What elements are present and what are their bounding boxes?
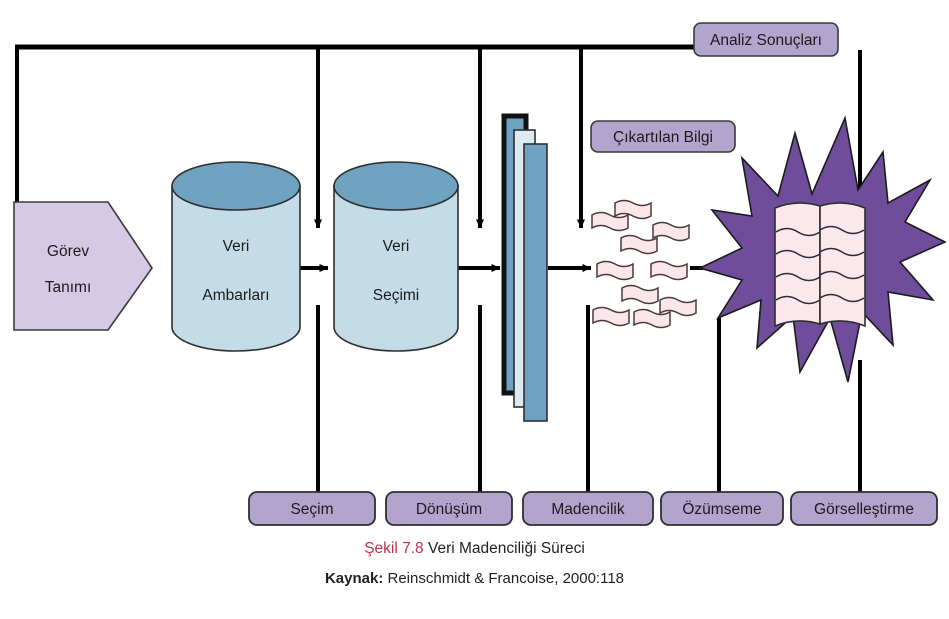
data-warehouse-label-line2: Ambarları [202,287,269,304]
figure-number: Şekil 7.8 [364,540,423,557]
analysis-results-callout-label: Analiz Sonuçları [710,32,822,49]
figure-caption-block: Şekil 7.8 Veri Madenciliği Süreci Kaynak… [0,538,949,590]
data-selection-label-line2: Seçimi [373,287,420,304]
data-selection-cylinder-top [334,162,458,210]
analysis-results-callout[interactable]: Analiz Sonuçları [694,23,838,56]
stage-box-visualization[interactable]: Görselleştirme [791,492,937,525]
stage-box-assimilation-label: Özümseme [682,500,761,518]
task-definition-pentagon [14,202,152,330]
flag-shape [622,286,658,304]
data-warehouse-cylinder-top [172,162,300,210]
stage-box-assimilation[interactable]: Özümseme [661,492,783,525]
task-definition-label-line1: Görev [47,243,89,260]
data-selection-node[interactable]: Veri Seçimi [334,162,458,351]
extracted-info-flags [592,201,696,328]
book-left-page [775,203,820,326]
figure-source: Kaynak: Reinschmidt & Francoise, 2000:11… [0,568,949,590]
figure-source-text: Reinschmidt & Francoise, 2000:118 [388,570,625,587]
stage-box-transformation[interactable]: Dönüşüm [386,492,512,525]
visualization-starburst-node[interactable] [700,118,945,382]
flag-shape [592,213,628,231]
flag-shape [653,223,689,241]
extracted-info-callout-label: Çıkartılan Bilgi [613,129,713,146]
book-right-page [820,203,865,326]
flag-shape [621,236,657,254]
extracted-info-callout[interactable]: Çıkartılan Bilgi [591,121,735,152]
flag-shape [597,262,633,280]
flag-shape [593,308,629,326]
data-selection-label-line1: Veri [383,238,410,255]
transformation-panel-front [524,144,547,421]
stage-box-selection-label: Seçim [290,501,333,518]
stage-label-boxes: Seçim Dönüşüm Madencilik Özümseme Görsel… [249,492,937,525]
flag-shape [634,310,670,328]
stage-box-visualization-label: Görselleştirme [814,501,914,518]
stage-box-transformation-label: Dönüşüm [416,501,482,518]
stage-box-mining-label: Madencilik [551,501,624,518]
figure-caption: Şekil 7.8 Veri Madenciliği Süreci [0,538,949,560]
stage-box-selection[interactable]: Seçim [249,492,375,525]
figure-container: Görev Tanımı Veri Ambarları Veri Seçimi [0,0,949,619]
figure-title: Veri Madenciliği Süreci [428,540,585,557]
task-definition-label-line2: Tanımı [45,279,92,296]
stage-box-mining[interactable]: Madencilik [523,492,653,525]
data-mining-process-diagram: Görev Tanımı Veri Ambarları Veri Seçimi [0,0,949,619]
flag-shape [660,298,696,316]
data-warehouse-label-line1: Veri [223,238,250,255]
data-warehouse-node[interactable]: Veri Ambarları [172,162,300,351]
transformation-panels[interactable] [504,116,547,421]
flag-shape [615,201,651,219]
task-definition-node[interactable]: Görev Tanımı [14,202,152,330]
flag-shape [651,262,687,280]
figure-source-prefix: Kaynak: [325,570,383,587]
